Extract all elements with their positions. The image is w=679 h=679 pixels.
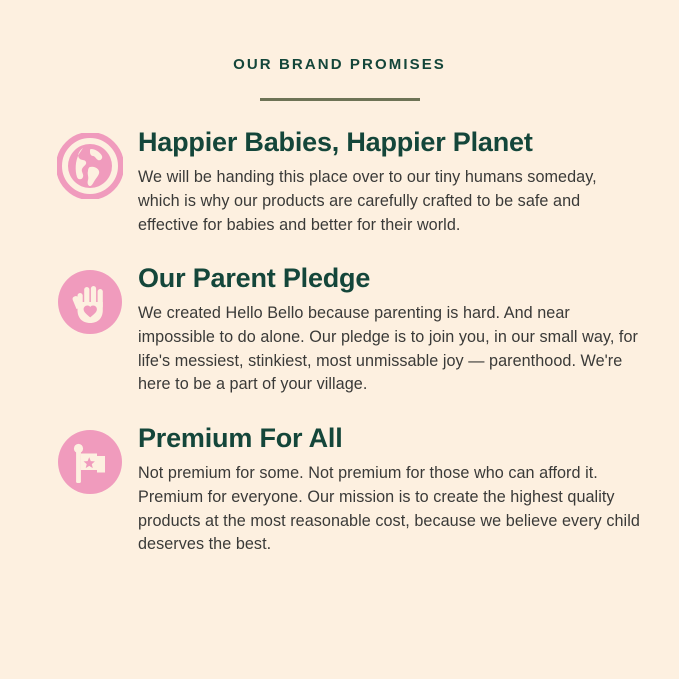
promise-title: Premium For All bbox=[138, 423, 641, 453]
promise-body: We created Hello Bello because parenting… bbox=[138, 302, 641, 397]
divider bbox=[0, 98, 679, 101]
promise-title: Happier Babies, Happier Planet bbox=[138, 127, 641, 157]
promise-text: Premium For All Not premium for some. No… bbox=[138, 423, 641, 557]
divider-line bbox=[260, 98, 420, 101]
promise-text: Our Parent Pledge We created Hello Bello… bbox=[138, 263, 641, 397]
page-header: OUR BRAND PROMISES bbox=[0, 0, 679, 101]
promise-title: Our Parent Pledge bbox=[138, 263, 641, 293]
flag-star-icon bbox=[57, 429, 123, 495]
promises-list: Happier Babies, Happier Planet We will b… bbox=[0, 127, 679, 557]
globe-icon bbox=[57, 133, 123, 199]
promise-text: Happier Babies, Happier Planet We will b… bbox=[138, 127, 641, 237]
list-item: Happier Babies, Happier Planet We will b… bbox=[0, 127, 679, 237]
list-item: Our Parent Pledge We created Hello Bello… bbox=[0, 263, 679, 397]
brand-promises-page: OUR BRAND PROMISES Happier Babies, Happi… bbox=[0, 0, 679, 679]
hand-heart-icon bbox=[57, 269, 123, 335]
promise-body: We will be handing this place over to ou… bbox=[138, 166, 641, 237]
promise-body: Not premium for some. Not premium for th… bbox=[138, 462, 641, 557]
page-title: OUR BRAND PROMISES bbox=[0, 57, 679, 72]
list-item: Premium For All Not premium for some. No… bbox=[0, 423, 679, 557]
